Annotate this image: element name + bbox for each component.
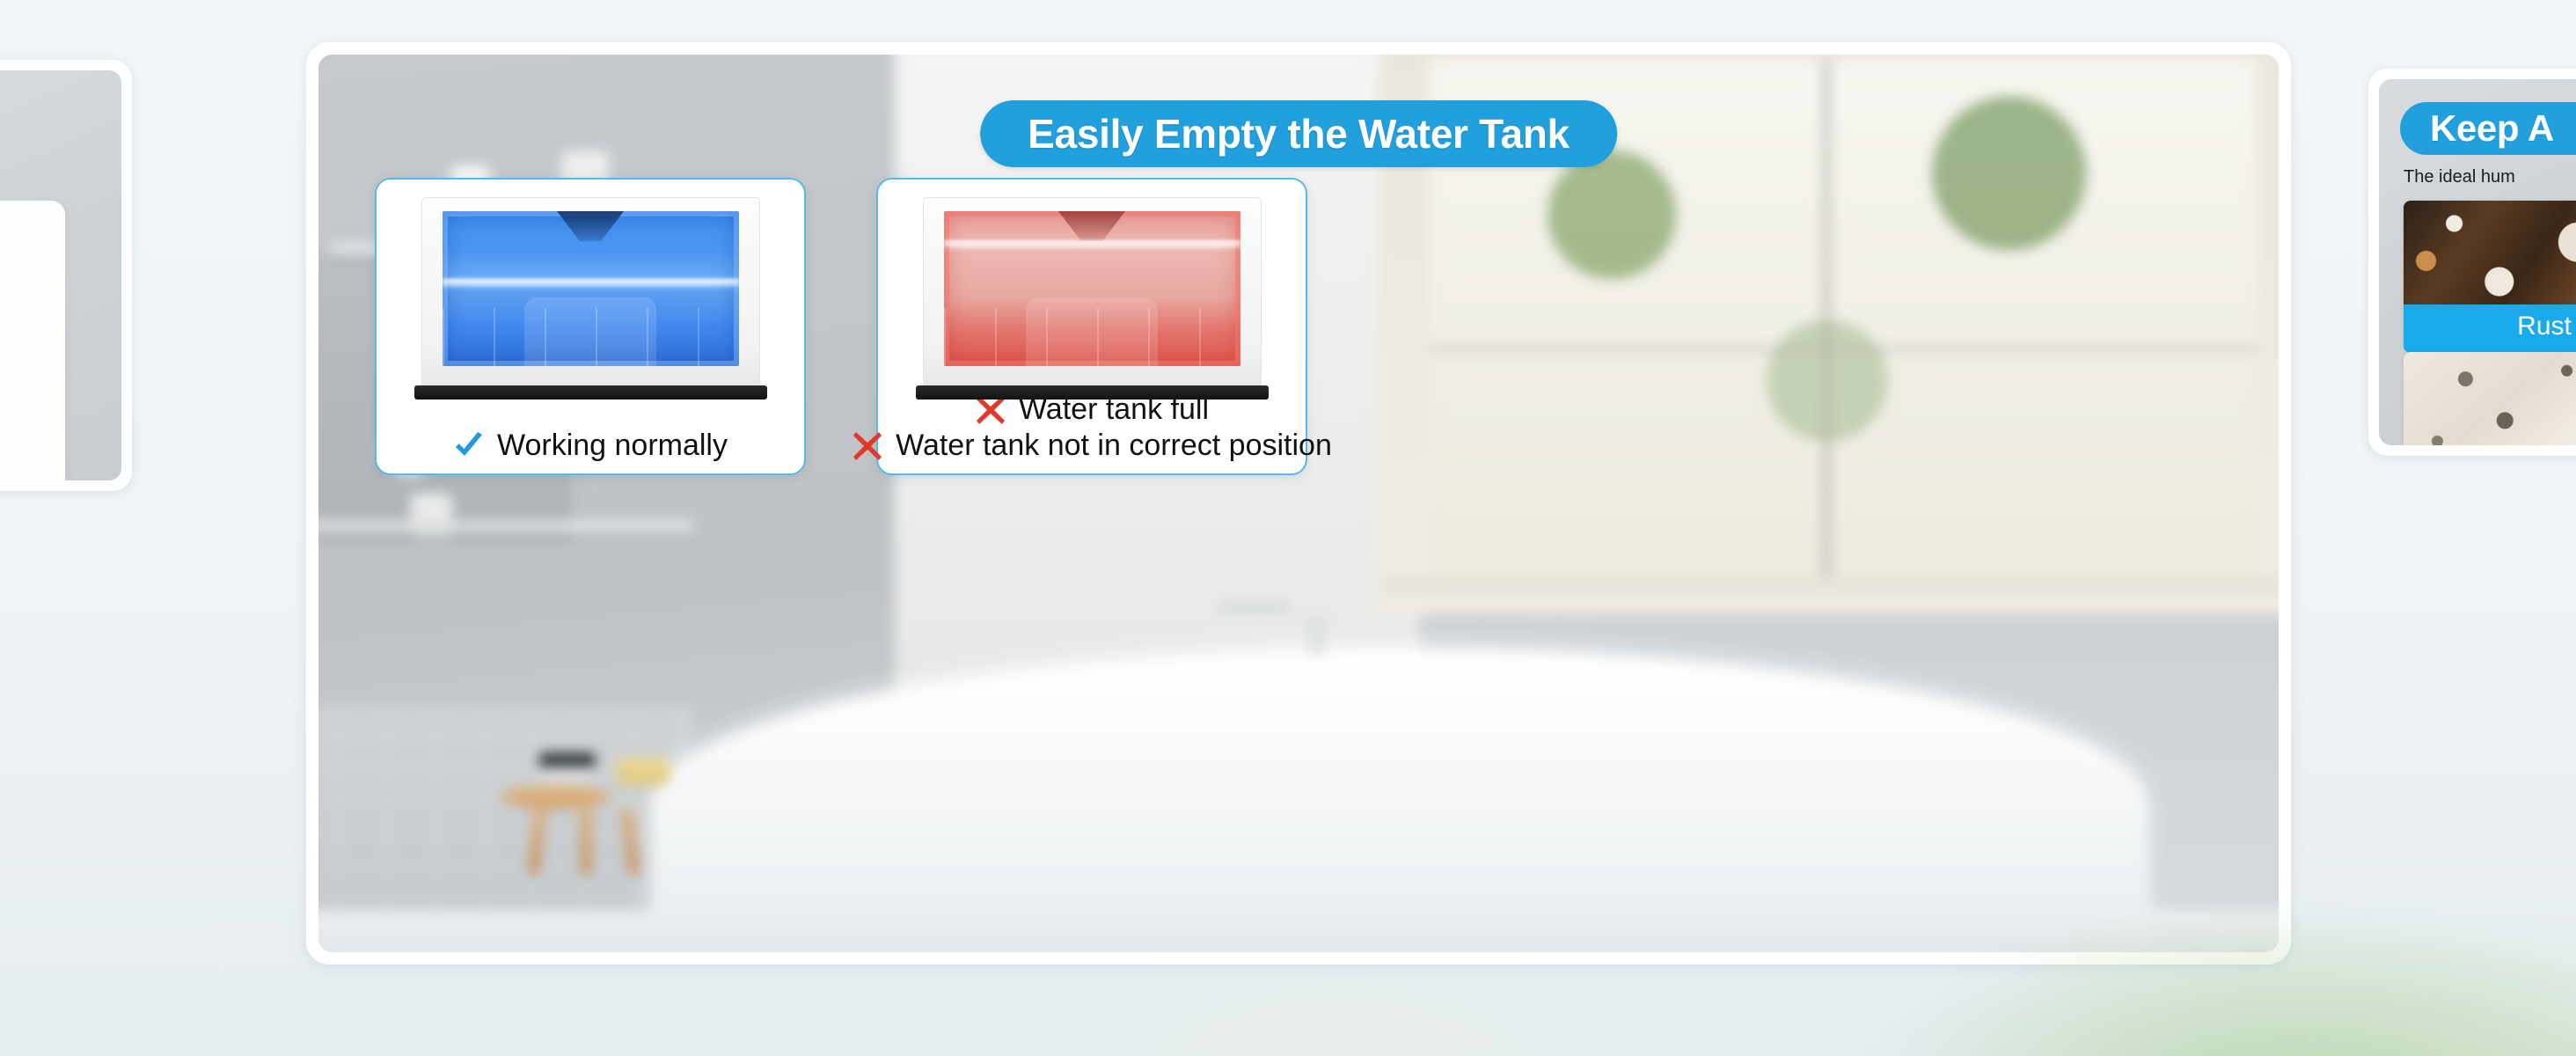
hazard-tile-wet-wall[interactable]: Wet wall (2404, 352, 2576, 445)
hazard-tile-label: Rust (2404, 304, 2576, 353)
left-neighbor-panel[interactable] (0, 60, 132, 491)
background-faucet-body (1308, 614, 1322, 656)
hero-title-banner: Easily Empty the Water Tank (980, 100, 1617, 167)
tank-bottom-grid (443, 308, 739, 366)
background-stool-seat (501, 785, 611, 809)
right-panel-title-banner: Keep A (2400, 102, 2576, 155)
product-detail-page: Easily Empty the Water Tank (0, 0, 2576, 1056)
blue-water-tank (421, 197, 760, 389)
hero-panel-frame: Easily Empty the Water Tank (306, 42, 2291, 964)
left-panel-scene (0, 70, 121, 480)
caption-row: Water tank not in correct position (852, 429, 1332, 463)
background-stool-leg (580, 809, 591, 874)
tank-water-line (944, 240, 1240, 248)
hazard-tile-rust[interactable]: Rust (2404, 201, 2576, 353)
caption-text: Water tank not in correct position (896, 429, 1332, 463)
background-window-mullion-vertical (1824, 60, 1830, 577)
background-plant-pot (410, 494, 451, 535)
tank-window-blue (443, 211, 739, 366)
background-floor (318, 910, 2279, 952)
background-bowl (539, 753, 596, 782)
tank-base (916, 385, 1269, 400)
status-card-working-normally[interactable]: Working normally (375, 178, 806, 475)
rust-photo (2404, 201, 2576, 304)
background-bathtub (653, 651, 2147, 952)
tank-bottom-grid (944, 308, 1240, 366)
background-towel (616, 758, 670, 785)
caption-text: Working normally (497, 429, 728, 463)
right-neighbor-panel[interactable]: Keep A The ideal hum Rust Wet wall (2368, 69, 2576, 456)
caption-row: Working normally (453, 429, 728, 463)
tank-water-line (443, 279, 739, 287)
dehumidifier-product-card[interactable] (0, 201, 65, 480)
right-panel-scene: Keep A The ideal hum Rust Wet wall (2379, 79, 2576, 445)
background-shelf-lower (318, 522, 693, 532)
background-window-mullion-horizontal (1430, 346, 2258, 351)
card-captions: Water tank full Water tank not in correc… (887, 392, 1297, 463)
wet-wall-photo (2404, 352, 2576, 445)
right-panel-subtitle: The ideal hum (2404, 167, 2515, 187)
tank-window-red (944, 211, 1240, 366)
background-window-sill (1379, 577, 2279, 594)
tank-base (414, 385, 767, 400)
check-icon (453, 430, 485, 462)
cross-icon (852, 430, 883, 462)
red-water-tank (923, 197, 1262, 389)
status-card-error[interactable]: Water tank full Water tank not in correc… (876, 178, 1307, 475)
hero-panel: Easily Empty the Water Tank (318, 55, 2279, 952)
card-captions: Working normally (385, 429, 795, 463)
background-faucet-arm (1218, 600, 1290, 611)
